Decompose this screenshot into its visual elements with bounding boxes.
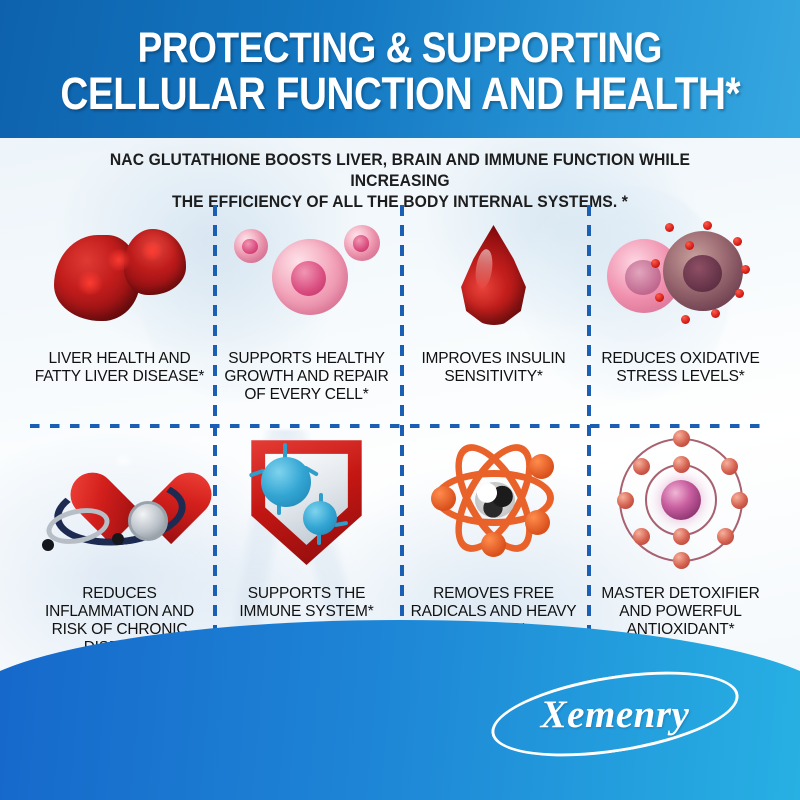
headline-line-2: CELLULAR FUNCTION AND HEALTH* <box>60 71 740 117</box>
bohr-atom-icon <box>617 436 745 564</box>
cells-icon-box <box>213 200 400 350</box>
orange-atom-icon <box>429 440 559 560</box>
blood-drop-icon <box>458 225 530 325</box>
immune-shield-icon-box <box>213 415 400 585</box>
cells-icon <box>232 223 382 328</box>
infographic-poster: PROTECTING & SUPPORTING CELLULAR FUNCTIO… <box>0 0 800 800</box>
immune-shield-icon <box>247 435 367 565</box>
liver-icon-box <box>26 200 213 350</box>
brand-logo: Xemenry <box>490 676 740 752</box>
header-banner: PROTECTING & SUPPORTING CELLULAR FUNCTIO… <box>0 0 800 138</box>
divider-horizontal <box>30 424 770 428</box>
liver-icon <box>54 227 186 323</box>
heart-stethoscope-icon <box>40 435 200 565</box>
blood-drop-icon-box <box>400 200 587 350</box>
subheadline-line-1: NAC GLUTATHIONE BOOSTS LIVER, BRAIN AND … <box>71 150 728 192</box>
headline-line-1: PROTECTING & SUPPORTING <box>138 25 662 71</box>
benefit-caption: REDUCES OXIDATIVE STRESS LEVELS* <box>587 350 774 386</box>
benefit-caption: SUPPORTS HEALTHY GROWTH AND REPAIR OF EV… <box>213 350 400 404</box>
benefit-cell-insulin: IMPROVES INSULIN SENSITIVITY* <box>400 200 587 415</box>
benefit-caption: LIVER HEALTH AND FATTY LIVER DISEASE* <box>26 350 213 386</box>
divider-vertical-2 <box>400 205 404 665</box>
benefit-cell-liver: LIVER HEALTH AND FATTY LIVER DISEASE* <box>26 200 213 415</box>
divider-vertical-3 <box>587 205 591 665</box>
benefit-caption: SUPPORTS THE IMMUNE SYSTEM* <box>213 585 400 621</box>
brand-name: Xemenry <box>541 692 690 737</box>
benefit-caption: IMPROVES INSULIN SENSITIVITY* <box>400 350 587 386</box>
heart-stethoscope-icon-box <box>26 415 213 585</box>
orange-atom-icon-box <box>400 415 587 585</box>
benefit-cell-oxidative: REDUCES OXIDATIVE STRESS LEVELS* <box>587 200 774 415</box>
benefit-cell-growth: SUPPORTS HEALTHY GROWTH AND REPAIR OF EV… <box>213 200 400 415</box>
oxidative-cells-icon <box>607 221 755 329</box>
divider-vertical-1 <box>213 205 217 665</box>
bohr-atom-icon-box <box>587 415 774 585</box>
oxidative-cells-icon-box <box>587 200 774 350</box>
